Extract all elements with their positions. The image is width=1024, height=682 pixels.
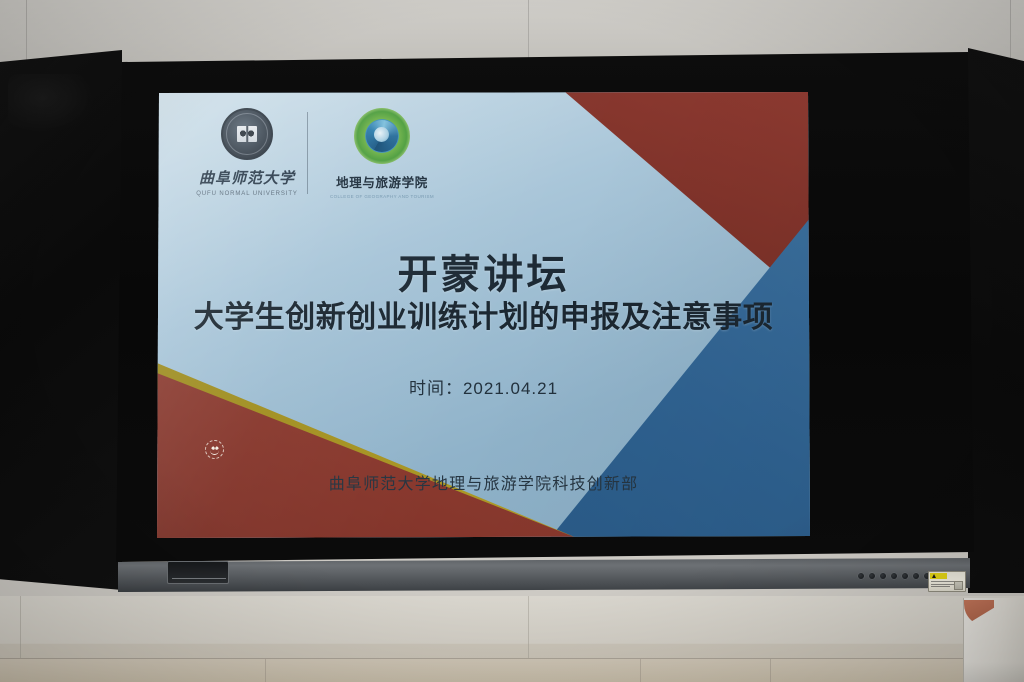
tile-row-lower — [0, 659, 1024, 682]
display-bottom-tray — [118, 558, 970, 592]
university-seal-icon — [221, 108, 273, 160]
cabinet-corner-trim — [964, 600, 994, 626]
down-button[interactable] — [902, 573, 908, 579]
university-name-cn: 曲阜师范大学 — [199, 167, 295, 188]
tile-seam — [265, 659, 266, 682]
open-book-icon — [237, 126, 257, 142]
up-button[interactable] — [891, 573, 897, 579]
logo-divider — [307, 112, 308, 194]
classroom-scene: 曲阜师范大学 QUFU NORMAL UNIVERSITY 地理与旅游学院 CO… — [0, 0, 1024, 682]
slide-department-line: 曲阜师范大学地理与旅游学院科技创新部 — [157, 470, 810, 494]
display-screen[interactable]: 曲阜师范大学 QUFU NORMAL UNIVERSITY 地理与旅游学院 CO… — [157, 92, 810, 538]
smiley-seal-icon — [205, 440, 224, 459]
tile-seam — [770, 659, 771, 682]
volume-down-button[interactable] — [913, 573, 919, 579]
source-button[interactable] — [869, 573, 875, 579]
lower-tiled-wall — [0, 596, 1024, 682]
cabinet-shadow — [964, 662, 1024, 682]
pen-tray-slot — [167, 561, 229, 584]
side-cabinet — [963, 598, 1024, 682]
college-logo-block: 地理与旅游学院 COLLEGE OF GEOGRAPHY AND TOURISM — [322, 108, 442, 199]
college-emblem-icon — [354, 108, 410, 164]
smiley-face — [209, 444, 221, 456]
blackboard-panel-right — [968, 48, 1024, 593]
warning-pictogram — [954, 581, 963, 590]
wall-panel-seam — [1010, 0, 1011, 62]
college-name-cn: 地理与旅游学院 — [336, 172, 428, 191]
college-name-en: COLLEGE OF GEOGRAPHY AND TOURISM — [330, 194, 434, 199]
power-button[interactable] — [858, 573, 864, 579]
university-logo-block: 曲阜师范大学 QUFU NORMAL UNIVERSITY — [193, 108, 301, 197]
warning-triangle-icon — [932, 574, 936, 578]
tile-seam — [20, 596, 21, 658]
menu-button[interactable] — [880, 573, 886, 579]
presentation-slide: 曲阜师范大学 QUFU NORMAL UNIVERSITY 地理与旅游学院 CO… — [157, 92, 810, 538]
board-glare — [8, 74, 96, 134]
university-name-en: QUFU NORMAL UNIVERSITY — [196, 191, 298, 197]
wall-panel-seam — [26, 0, 27, 62]
wall-panel-seam — [528, 0, 529, 62]
slide-title-sub: 大学生创新创业训练计划的申报及注意事项 — [157, 292, 810, 336]
globe-swirl-icon — [366, 120, 398, 152]
tile-seam — [640, 659, 641, 682]
blackboard-panel-left — [0, 50, 122, 590]
tile-seam — [528, 596, 529, 658]
upper-wall — [0, 0, 1024, 62]
slide-date-line: 时间：2021.04.21 — [157, 374, 810, 399]
slide-logo-row: 曲阜师范大学 QUFU NORMAL UNIVERSITY 地理与旅游学院 CO… — [193, 108, 442, 199]
tray-slot-line — [172, 578, 226, 579]
warning-label — [928, 571, 966, 592]
